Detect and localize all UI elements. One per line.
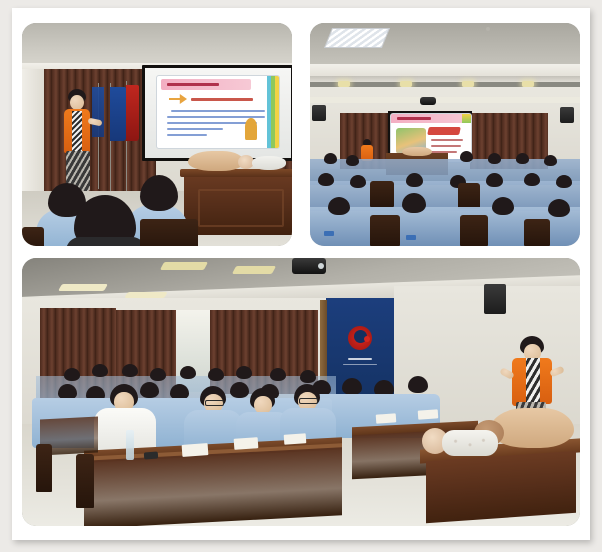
manikin-adult [188, 151, 244, 171]
audience-r2-h4 [548, 199, 570, 217]
manikin-adult [402, 147, 432, 156]
flag-blue-far [92, 87, 104, 137]
phone-on-desk [144, 452, 158, 460]
audience-r3-h6 [524, 173, 540, 186]
audience-back-h5 [180, 366, 196, 379]
notepad-2 [234, 437, 259, 450]
manikin-table [426, 451, 576, 523]
audience-r3-h2 [350, 175, 366, 188]
front-person-2-glasses [205, 400, 224, 406]
chair-row-3 [370, 181, 394, 207]
notepad-5 [418, 409, 439, 419]
ceiling-light-strip-1 [160, 262, 208, 270]
audience-r2-h2 [402, 193, 426, 213]
manikin-infant-pattern [446, 434, 494, 452]
scene-top-right [310, 23, 580, 246]
audience-r4-h5 [516, 153, 529, 164]
slide-arrow-icon [169, 94, 187, 104]
slide-body-line-1 [171, 110, 265, 112]
instructor-face [70, 95, 84, 110]
chair-row-2c [524, 219, 550, 246]
wall-left-light-1 [58, 284, 108, 291]
chair-back-1 [140, 219, 198, 246]
instructor-shirt [72, 111, 82, 153]
scene-top-left [22, 23, 292, 246]
photo-bottom[interactable]: Side view of the training room: seated s… [22, 258, 580, 526]
slide-body-line-3 [167, 122, 257, 124]
projector [420, 97, 436, 105]
manikin-infant [252, 156, 286, 170]
audience-r3-h3 [406, 173, 423, 187]
wall-speaker [484, 284, 506, 314]
audience-2-head [140, 175, 178, 211]
audience-r3-h1 [318, 173, 334, 186]
slide-tab-cyan [267, 76, 271, 148]
slide-header-text [167, 83, 219, 86]
front-person-4-glasses [299, 398, 318, 404]
banner-company-subtext [343, 364, 377, 365]
podium-panel [198, 189, 284, 227]
audience-r4-h2 [346, 155, 359, 166]
water-bottle [126, 430, 134, 460]
audience-back-h7 [236, 366, 252, 379]
slide-body-line-2 [431, 145, 461, 147]
banner-logo-dot [364, 336, 370, 342]
lanyard-badge [324, 231, 334, 236]
ceiling-light-strip-2 [232, 266, 276, 274]
audience-mid-h5 [230, 382, 249, 398]
slide-tab-yellow [275, 76, 279, 148]
audience-r4-h3 [460, 151, 473, 162]
audience-r4-h4 [488, 153, 501, 164]
slide-header-text [397, 117, 431, 120]
chair-left-2 [36, 444, 52, 492]
audience-back-h1 [64, 368, 80, 381]
banner-company-name [348, 358, 372, 360]
speaker-left [312, 105, 326, 121]
slide-title-text [191, 98, 253, 101]
ceiling-panel-light [324, 28, 390, 48]
audience-back-h3 [122, 364, 138, 377]
slide-top-left [156, 75, 280, 149]
wall-trim [310, 97, 580, 103]
audience-mid-h10 [408, 376, 428, 393]
speaker-right [560, 107, 574, 123]
slide-body-line-5 [167, 134, 207, 136]
slide-key-icon [245, 118, 257, 140]
notepad-4 [376, 413, 397, 423]
audience-back-h2 [92, 364, 108, 377]
photo-top-left[interactable]: Instructor in orange vest presenting bes… [22, 23, 292, 246]
audience-r3-h7 [556, 175, 572, 188]
wall-left-pillar [22, 69, 44, 199]
instructor-vest [512, 358, 526, 406]
projector-lens [318, 263, 324, 269]
collage-title: First-aid (CPR) training session photo c… [12, 8, 13, 9]
chair-row-3b [458, 183, 480, 209]
podium-top [180, 169, 292, 177]
photo-top-right[interactable]: Wide view of the full lecture hall from … [310, 23, 580, 246]
lanyard-badge-2 [406, 235, 416, 240]
chair-row-2b [460, 215, 488, 246]
audience-r3-h5 [486, 173, 503, 187]
notepad-3 [284, 433, 307, 445]
scene-bottom [22, 258, 580, 526]
audience-r2-h3 [492, 197, 514, 215]
notepad-1 [182, 443, 209, 457]
instructor-vest-right [540, 358, 552, 404]
audience-r4-h1 [324, 153, 337, 164]
chair-left-1 [76, 454, 94, 508]
soffit-shadow [310, 76, 580, 82]
wall-left-light-2 [124, 292, 167, 298]
audience-mid-h8 [342, 378, 362, 395]
flag-blue-left [110, 87, 126, 141]
audience-mid-h3 [140, 382, 159, 398]
audience-back-h4 [150, 368, 166, 381]
chair-back-2 [22, 227, 44, 246]
audience-back-h9 [300, 370, 316, 383]
audience-back-h6 [208, 368, 224, 381]
ceiling-smoke-detector [486, 27, 490, 31]
flag-red [126, 85, 139, 141]
audience-r2-h1 [328, 197, 350, 215]
audience-back-h8 [270, 368, 286, 381]
slide-body-line-1 [431, 139, 463, 141]
desk-front [84, 447, 342, 526]
slide-tab-green [271, 76, 275, 148]
audience-3-body [66, 237, 146, 246]
audience-r4-h6 [544, 155, 557, 166]
chair-row-2 [370, 215, 400, 246]
slide-body-line-4 [167, 128, 223, 130]
slide-tab-strip [462, 114, 471, 123]
photo-collage: First-aid (CPR) training session photo c… [12, 8, 590, 540]
slide-title-text [427, 127, 461, 135]
